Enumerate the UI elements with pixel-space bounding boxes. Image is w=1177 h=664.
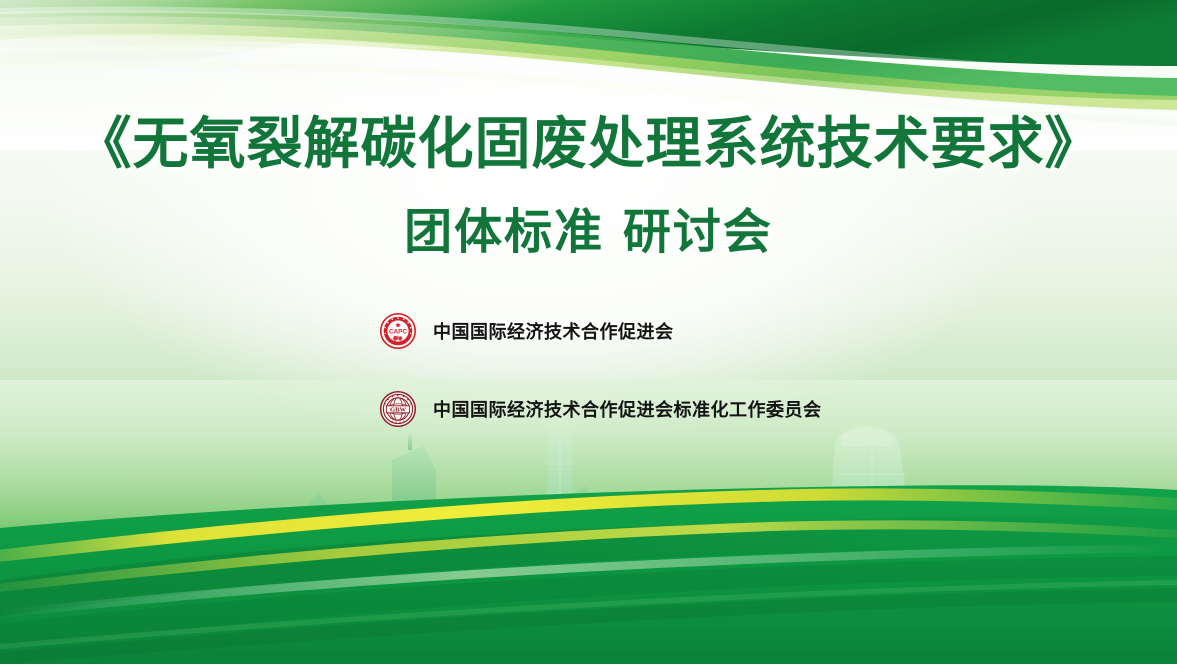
gbw-seal-icon: GBW	[379, 390, 417, 428]
organization-label-capc: 中国国际经济技术合作促进会	[433, 318, 674, 344]
organization-row-gbw: GBW	[379, 390, 822, 428]
slide-content: 《无氧裂解碳化固废处理系统技术要求》 团体标准 研讨会	[0, 0, 1177, 664]
presentation-slide: 《无氧裂解碳化固废处理系统技术要求》 团体标准 研讨会	[0, 0, 1177, 664]
page-title: 《无氧裂解碳化固废处理系统技术要求》	[0, 112, 1177, 178]
svg-text:GBW: GBW	[390, 407, 407, 414]
capc-seal-icon: CAPC	[379, 312, 417, 350]
organization-label-gbw: 中国国际经济技术合作促进会标准化工作委员会	[433, 396, 822, 422]
svg-text:CAPC: CAPC	[389, 328, 407, 335]
organization-row-capc: CAPC 中国国际经济技术合作促进会	[379, 312, 674, 350]
page-subtitle: 团体标准 研讨会	[0, 204, 1177, 262]
